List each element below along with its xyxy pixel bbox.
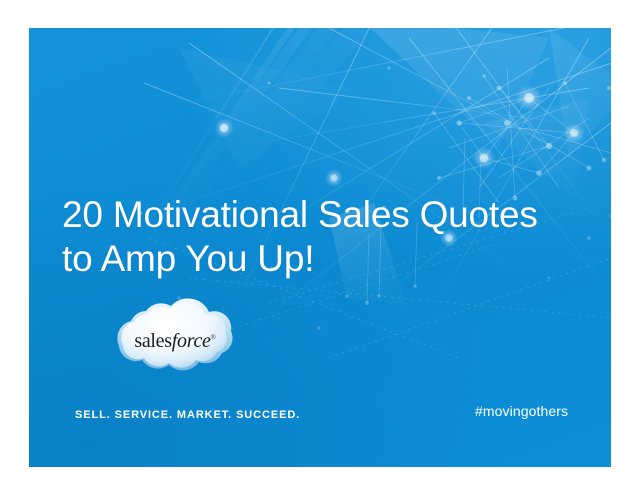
salesforce-logo: salesforce® [99,293,251,381]
brand-tagline: SELL. SERVICE. MARKET. SUCCEED. [75,409,300,421]
network-lines [124,28,611,338]
salesforce-wordmark: salesforce® [99,331,251,351]
presentation-slide: 20 Motivational Sales Quotes to Amp You … [29,28,611,467]
hashtag-label: #movingothers [475,403,568,419]
wordmark-sales: sales [134,330,171,352]
trademark-symbol: ® [211,333,216,341]
wordmark-force: force [172,330,211,352]
page-canvas: 20 Motivational Sales Quotes to Amp You … [0,0,638,493]
network-cluster-lines [434,68,611,203]
slide-title: 20 Motivational Sales Quotes to Amp You … [62,193,562,281]
